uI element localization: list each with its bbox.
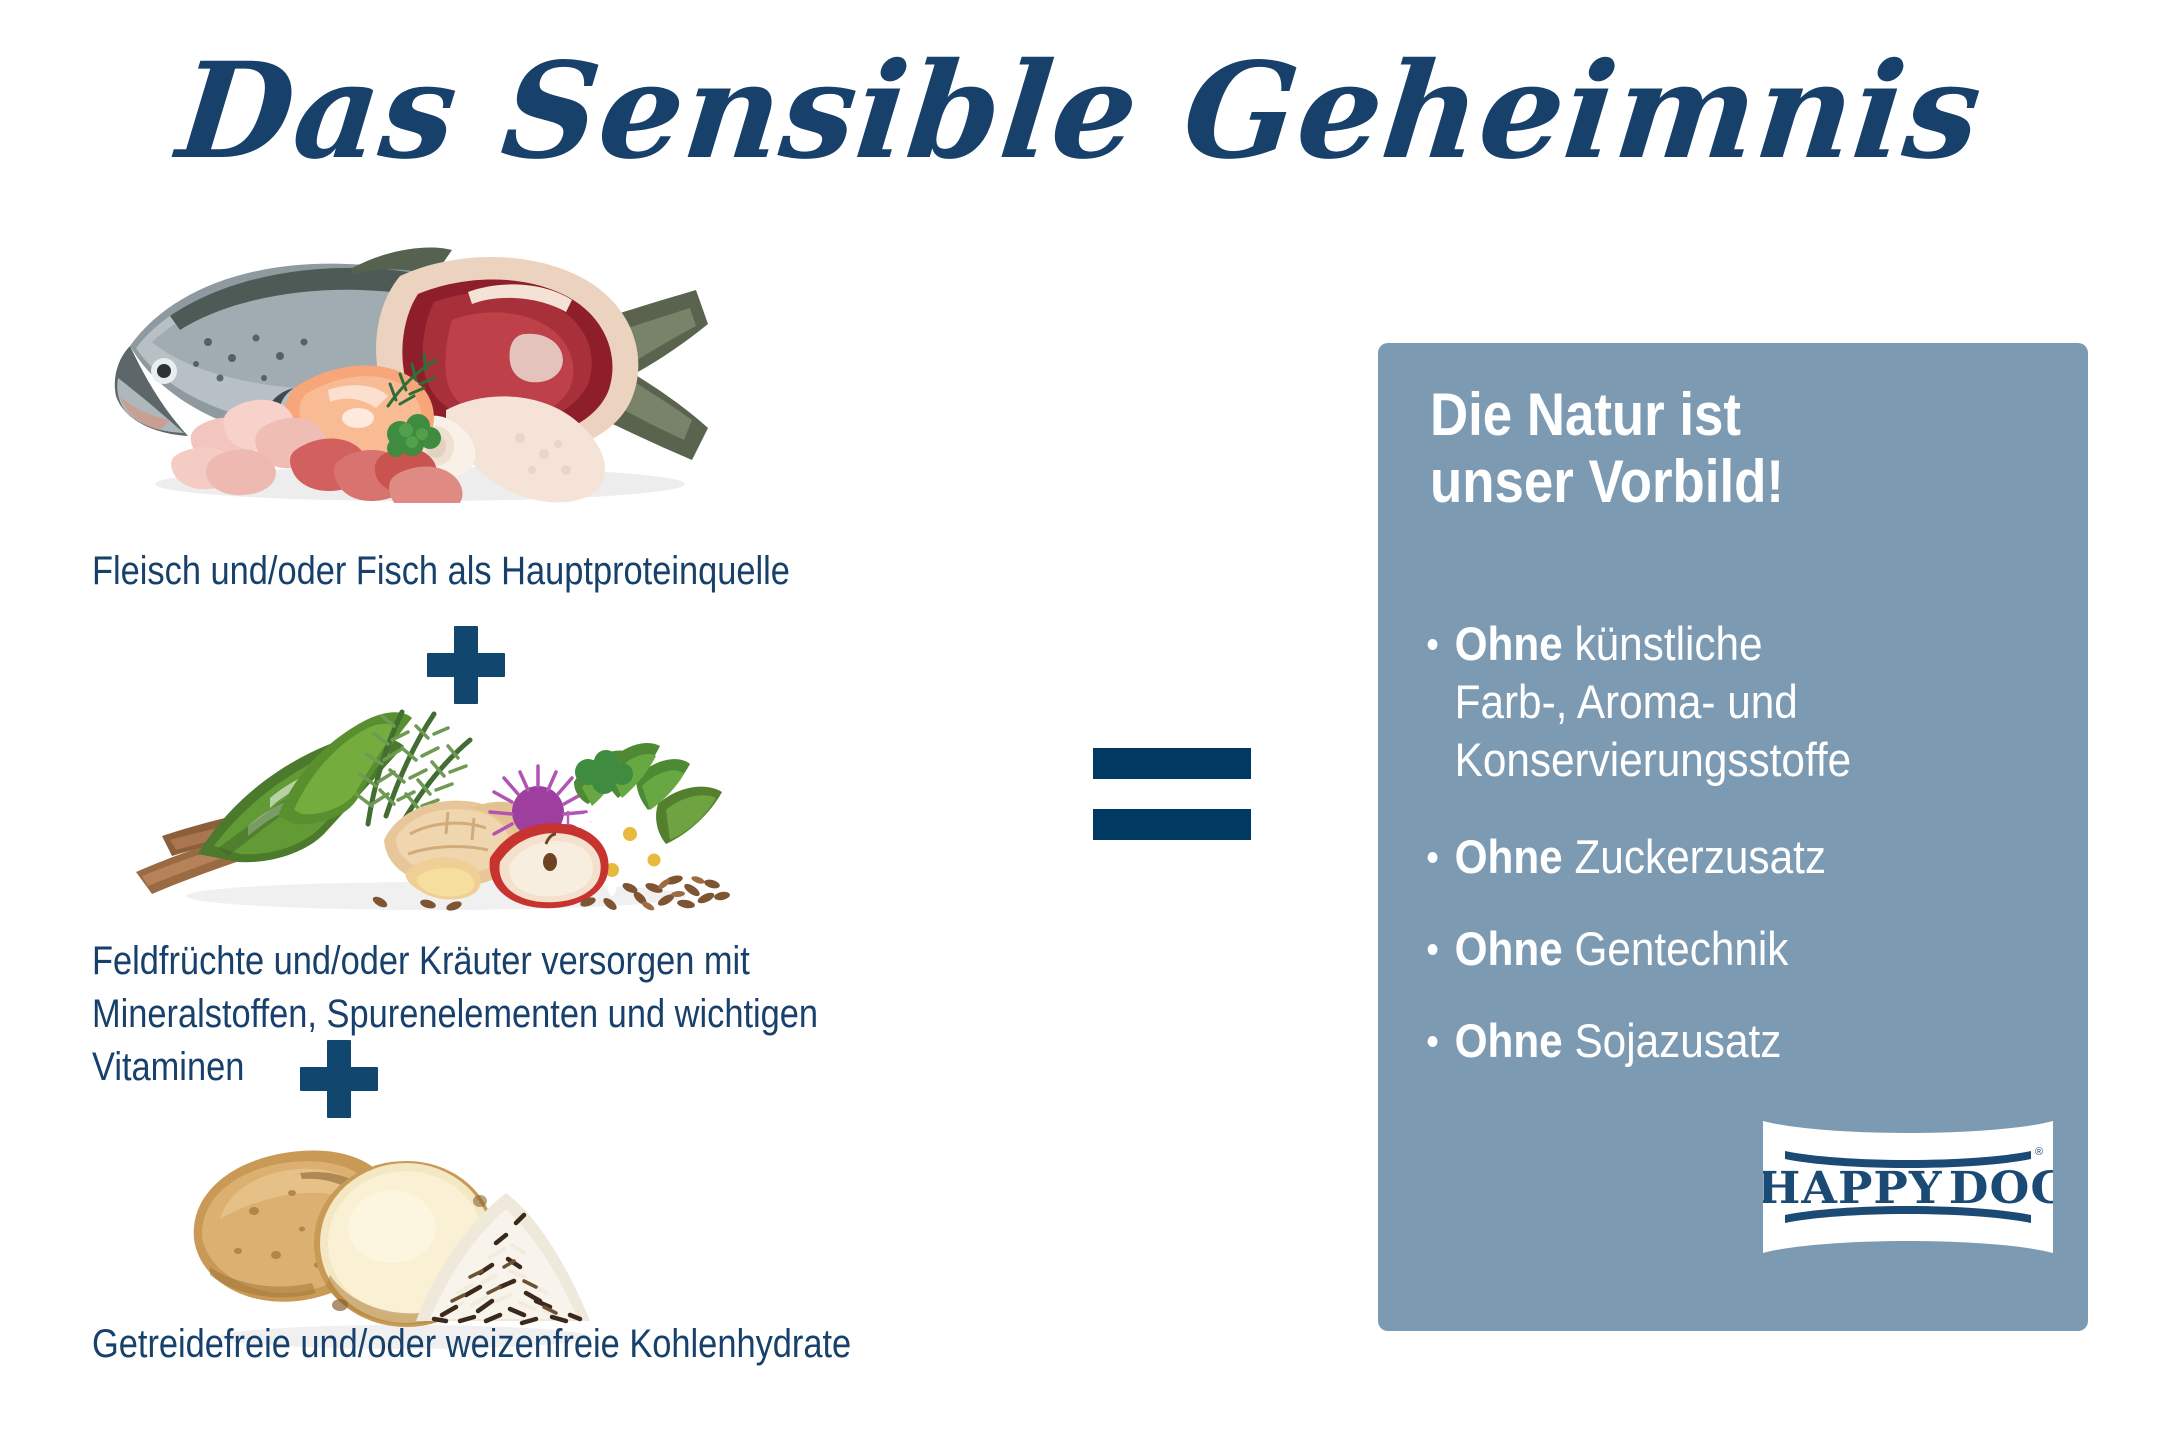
claim-strong-gmo: Ohne xyxy=(1455,922,1563,975)
logo-word-dog: DOG xyxy=(1949,1162,2053,1214)
claim-text-sugar: Zuckerzusatz xyxy=(1563,830,1826,883)
infographic-canvas: Das Sensible Geheimnis xyxy=(0,0,2160,1440)
ingredient-caption-carbs: Getreidefreie und/oder weizenfreie Kohle… xyxy=(92,1318,935,1371)
claim-strong-soy: Ohne xyxy=(1455,1014,1563,1067)
bullet-dot-icon xyxy=(1428,639,1438,650)
logo-word-happy: HAPPY xyxy=(1763,1162,1943,1214)
ingredient-caption-meat: Fleisch und/oder Fisch als Hauptproteinq… xyxy=(92,545,866,598)
claim-text-soy: Sojazusatz xyxy=(1563,1014,1782,1067)
potato-and-rice-photo xyxy=(180,1115,630,1350)
claim-item-soy: Ohne Sojazusatz xyxy=(1424,1012,2009,1070)
equals-icon xyxy=(1093,748,1251,840)
happy-dog-logo: HAPPYDOG ® xyxy=(1763,1121,2053,1253)
svg-text:HAPPYDOG: HAPPYDOG xyxy=(1763,1162,2053,1214)
claim-text-gmo: Gentechnik xyxy=(1563,922,1789,975)
claim-item-gmo: Ohne Gentechnik xyxy=(1424,920,2009,978)
nature-claims-panel: Die Natur ist unser Vorbild! Ohne künstl… xyxy=(1378,343,2088,1331)
claim-strong-sugar: Ohne xyxy=(1455,830,1563,883)
claim-item-additives: Ohne künstliche Farb-, Aroma- und Konser… xyxy=(1424,615,2009,788)
ingredient-caption-herbs: Feldfrüchte und/oder Kräuter versorgen m… xyxy=(92,935,978,1093)
claim-strong-additives: Ohne xyxy=(1455,617,1563,670)
claims-list: Ohne künstliche Farb-, Aroma- und Konser… xyxy=(1424,615,2074,1104)
bullet-dot-icon xyxy=(1428,1036,1438,1047)
panel-heading: Die Natur ist unser Vorbild! xyxy=(1430,381,1976,515)
claim-item-sugar: Ohne Zuckerzusatz xyxy=(1424,828,2009,886)
plus-icon-2 xyxy=(300,1040,378,1118)
bullet-dot-icon xyxy=(1428,944,1438,955)
logo-trademark-icon: ® xyxy=(2035,1146,2043,1158)
ingredients-column: Fleisch und/oder Fisch als Hauptproteinq… xyxy=(0,250,1060,1390)
herbs-and-field-crops-photo xyxy=(118,648,738,913)
meat-and-fish-photo xyxy=(100,238,740,503)
page-title: Das Sensible Geheimnis xyxy=(0,46,2160,178)
bullet-dot-icon xyxy=(1428,852,1438,863)
